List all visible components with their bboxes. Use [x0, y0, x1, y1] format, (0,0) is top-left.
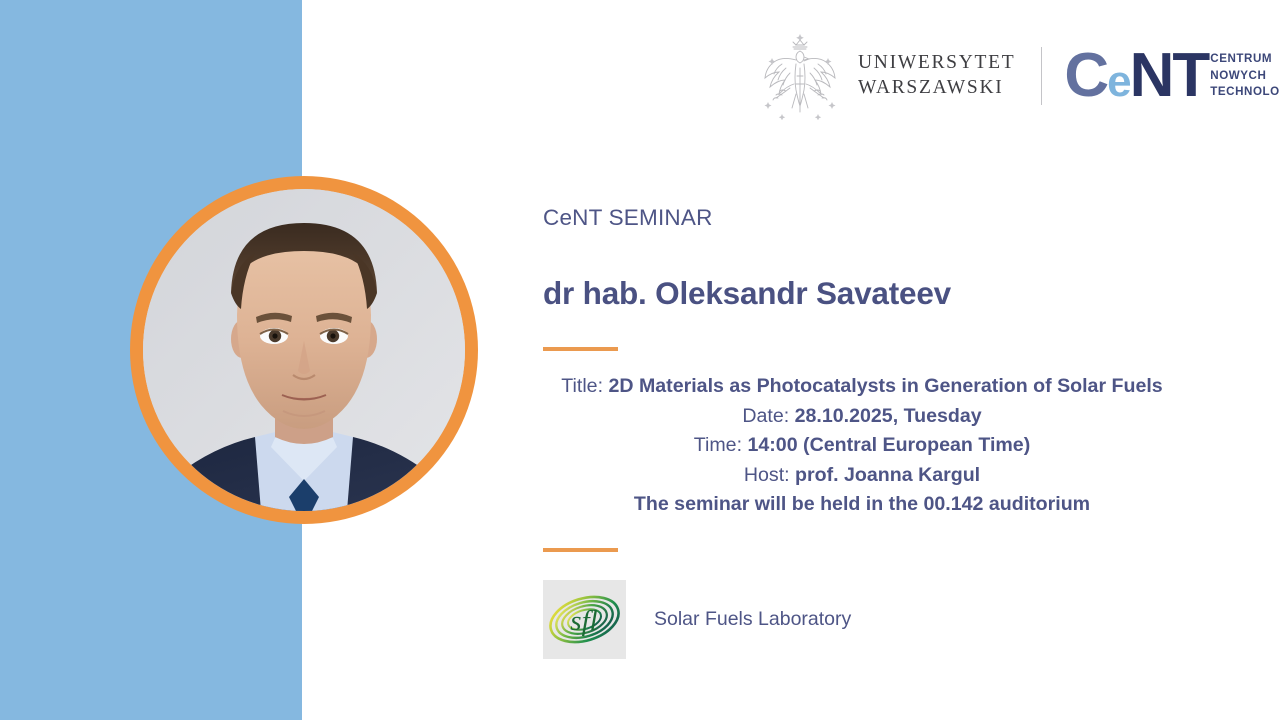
detail-row-time: Time: 14:00 (Central European Time)	[543, 431, 1181, 461]
detail-row-date: Date: 28.10.2025, Tuesday	[543, 402, 1181, 432]
detail-value-host: prof. Joanna Kargul	[795, 464, 980, 486]
detail-label-host: Host:	[744, 464, 790, 486]
avatar	[143, 189, 465, 511]
speaker-portrait-frame	[130, 176, 478, 524]
detail-value-title: 2D Materials as Photocatalysts in Genera…	[608, 375, 1162, 397]
logo-divider	[1041, 47, 1042, 105]
detail-label-title: Title:	[561, 375, 603, 397]
detail-value-date: 28.10.2025, Tuesday	[795, 405, 982, 427]
university-name: UNIWERSYTET WARSZAWSKI	[858, 51, 1015, 101]
seminar-details: Title: 2D Materials as Photocatalysts in…	[543, 372, 1181, 520]
page-title: dr hab. Oleksandr Savateev	[543, 275, 951, 312]
speaker-portrait-image	[143, 189, 465, 511]
university-of-warsaw-eagle-emblem	[752, 32, 848, 120]
university-of-warsaw-logo: UNIWERSYTET WARSZAWSKI	[752, 32, 1015, 120]
sfl-rings-icon: sfl	[543, 580, 626, 659]
detail-value-time: 14:00 (Central European Time)	[747, 434, 1030, 456]
logo-bar: UNIWERSYTET WARSZAWSKI CeNT CENTRUM NOWY…	[752, 28, 1252, 124]
cent-name-line3: TECHNOLOGII	[1210, 84, 1280, 100]
cent-full-name: CENTRUM NOWYCH TECHNOLOGII	[1210, 51, 1280, 100]
seminar-kicker: CeNT SEMINAR	[543, 205, 713, 231]
cent-mark-e: e	[1107, 57, 1129, 106]
seminar-poster: UNIWERSYTET WARSZAWSKI CeNT CENTRUM NOWY…	[0, 0, 1280, 720]
cent-name-line1: CENTRUM	[1210, 51, 1280, 67]
detail-row-host: Host: prof. Joanna Kargul	[543, 461, 1181, 491]
cent-wordmark: CeNT	[1064, 47, 1208, 104]
detail-row-title: Title: 2D Materials as Photocatalysts in…	[543, 372, 1181, 402]
solar-fuels-laboratory-logo: sfl	[543, 580, 626, 659]
cent-mark-c: C	[1064, 41, 1107, 110]
lab-name: Solar Fuels Laboratory	[654, 608, 851, 631]
sfl-letters: sfl	[570, 605, 597, 637]
cent-name-line2: NOWYCH	[1210, 68, 1280, 84]
detail-row-venue: The seminar will be held in the 00.142 a…	[543, 490, 1181, 520]
lab-credit: sfl Solar Fuels Laboratory	[543, 580, 851, 659]
cent-mark-nt: NT	[1130, 41, 1209, 110]
divider-top	[543, 347, 618, 351]
university-name-line2: WARSZAWSKI	[858, 76, 1015, 101]
detail-label-date: Date:	[742, 405, 789, 427]
detail-label-time: Time:	[694, 434, 742, 456]
divider-bottom	[543, 548, 618, 552]
cent-logo: CeNT CENTRUM NOWYCH TECHNOLOGII	[1064, 47, 1280, 104]
university-name-line1: UNIWERSYTET	[858, 51, 1015, 76]
